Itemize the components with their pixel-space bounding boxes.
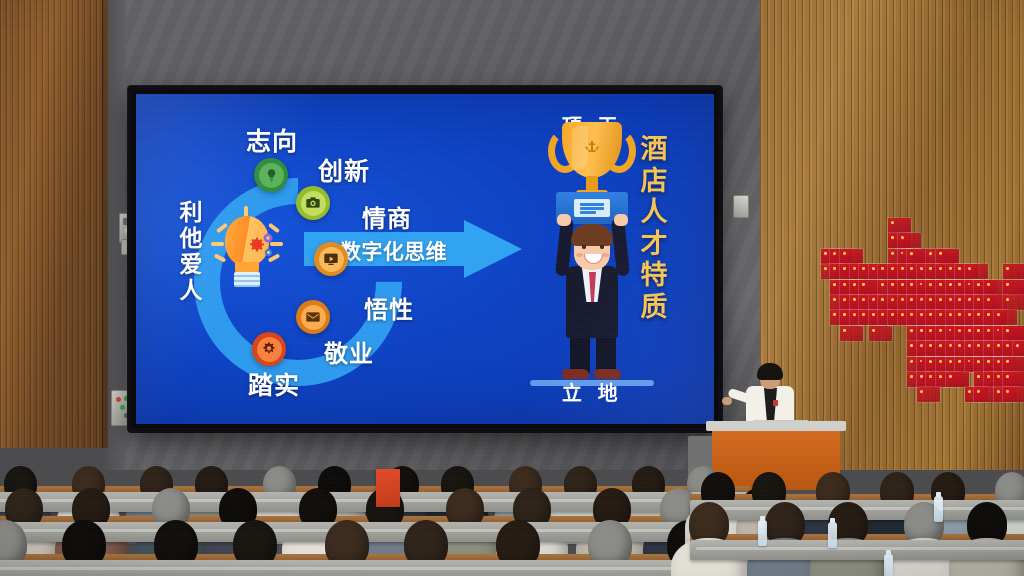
hand-right <box>614 214 628 226</box>
china-flag <box>993 310 1016 325</box>
quality-label-wuxing: 悟性 <box>364 290 414 325</box>
quality-label-tashi: 踏实 <box>248 366 300 402</box>
headline-char-2: 人 <box>636 197 672 229</box>
audience-area <box>0 436 1024 576</box>
china-map-of-flags <box>792 218 1024 418</box>
china-flag <box>897 233 920 248</box>
left-wood-panel <box>0 0 108 448</box>
gear-icon-tiny <box>263 247 274 258</box>
gear-icon-small <box>262 232 274 244</box>
china-flag <box>869 326 892 341</box>
wall-speaker <box>733 195 749 218</box>
headline-char-1: 店 <box>636 166 672 198</box>
bulb-glass <box>225 216 269 266</box>
leg-right <box>596 332 616 374</box>
china-flag <box>946 372 969 387</box>
quality-label-qingshang: 情商 <box>362 199 412 234</box>
china-flag <box>936 249 959 264</box>
water-bottle <box>828 522 837 548</box>
video-monitor-icon[interactable] <box>314 242 348 276</box>
left-char-3: 人 <box>176 278 206 304</box>
eye-left <box>582 245 586 249</box>
lightbulb-graphic <box>210 212 284 304</box>
china-flag <box>1003 326 1024 341</box>
water-bottle <box>934 496 943 522</box>
arrow-label: 数字化思维 <box>340 236 447 266</box>
podium-top <box>706 421 846 431</box>
camera-icon[interactable] <box>296 186 330 220</box>
bottom-caption: 立 地 <box>534 377 650 406</box>
lecture-hall-photo: 数字化思维 <box>0 0 1024 576</box>
presenter-badge <box>773 400 778 406</box>
red-booklet <box>376 469 400 507</box>
headline-char-5: 质 <box>636 292 672 324</box>
china-flag <box>1003 279 1024 294</box>
headline-char-4: 特 <box>636 260 672 292</box>
blush-left <box>576 253 583 257</box>
blush-right <box>602 253 609 257</box>
china-flag <box>888 218 911 233</box>
laurel-icon <box>580 136 604 160</box>
envelope-icon[interactable] <box>296 300 330 334</box>
headline-char-0: 酒 <box>636 134 672 166</box>
seat-back-rail <box>690 540 1024 560</box>
china-flag <box>1003 295 1024 310</box>
china-flag <box>840 326 863 341</box>
leg-left <box>570 332 590 374</box>
hair <box>571 224 613 246</box>
china-flag <box>1003 356 1024 371</box>
eye-right <box>600 245 604 249</box>
china-flag <box>917 387 940 402</box>
china-flag <box>1003 387 1024 402</box>
hand-left <box>557 214 571 226</box>
quality-label-zhixiang: 志向 <box>246 122 298 158</box>
china-flag <box>1003 372 1024 387</box>
headline-char-3: 才 <box>636 229 672 261</box>
water-bottle <box>884 554 893 576</box>
lightbulb-icon[interactable] <box>254 158 288 192</box>
left-char-0: 利 <box>176 200 206 226</box>
headline-right: 酒 店 人 才 特 质 <box>636 134 672 323</box>
slide-content: 数字化思维 <box>136 94 714 424</box>
quality-label-chuangxin: 创新 <box>318 152 370 188</box>
china-flag <box>1003 264 1024 279</box>
water-bottle <box>758 520 767 546</box>
china-flag <box>1013 341 1024 356</box>
quality-label-jingye: 敬业 <box>324 334 374 369</box>
left-char-2: 爱 <box>176 252 206 278</box>
gear-icon-badge[interactable] <box>252 332 286 366</box>
presentation-screen[interactable]: 数字化思维 <box>128 86 722 432</box>
bulb-base <box>234 272 260 287</box>
left-char-1: 他 <box>176 226 206 252</box>
presenter-hand <box>722 397 732 405</box>
china-flag <box>840 249 863 264</box>
china-flag <box>965 264 988 279</box>
left-vertical-caption: 利 他 爱 人 <box>176 200 206 304</box>
presenter-hair <box>757 363 783 380</box>
